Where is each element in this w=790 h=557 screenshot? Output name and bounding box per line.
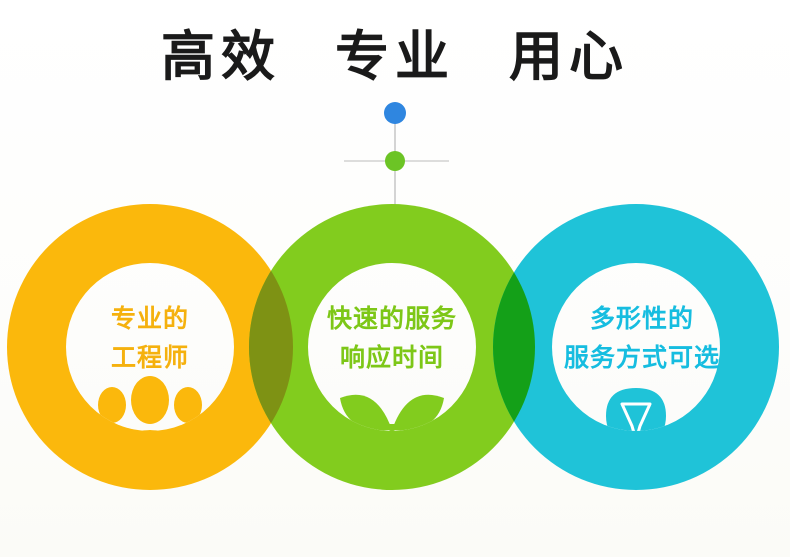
caption-line: 响应时间	[272, 339, 512, 378]
caption-line: 工程师	[40, 339, 260, 378]
circle-caption-response-time: 快速的服务 响应时间	[272, 300, 512, 378]
caption-line: 专业的	[40, 300, 260, 339]
poster-canvas: 高效专业用心	[0, 0, 790, 557]
circle-caption-engineers: 专业的 工程师	[40, 300, 260, 378]
circle-caption-service-modes: 多形性的 服务方式可选	[512, 300, 772, 378]
caption-line: 多形性的	[512, 300, 772, 339]
venn-rings	[0, 0, 790, 557]
caption-line: 快速的服务	[272, 300, 512, 339]
caption-line: 服务方式可选	[512, 339, 772, 378]
